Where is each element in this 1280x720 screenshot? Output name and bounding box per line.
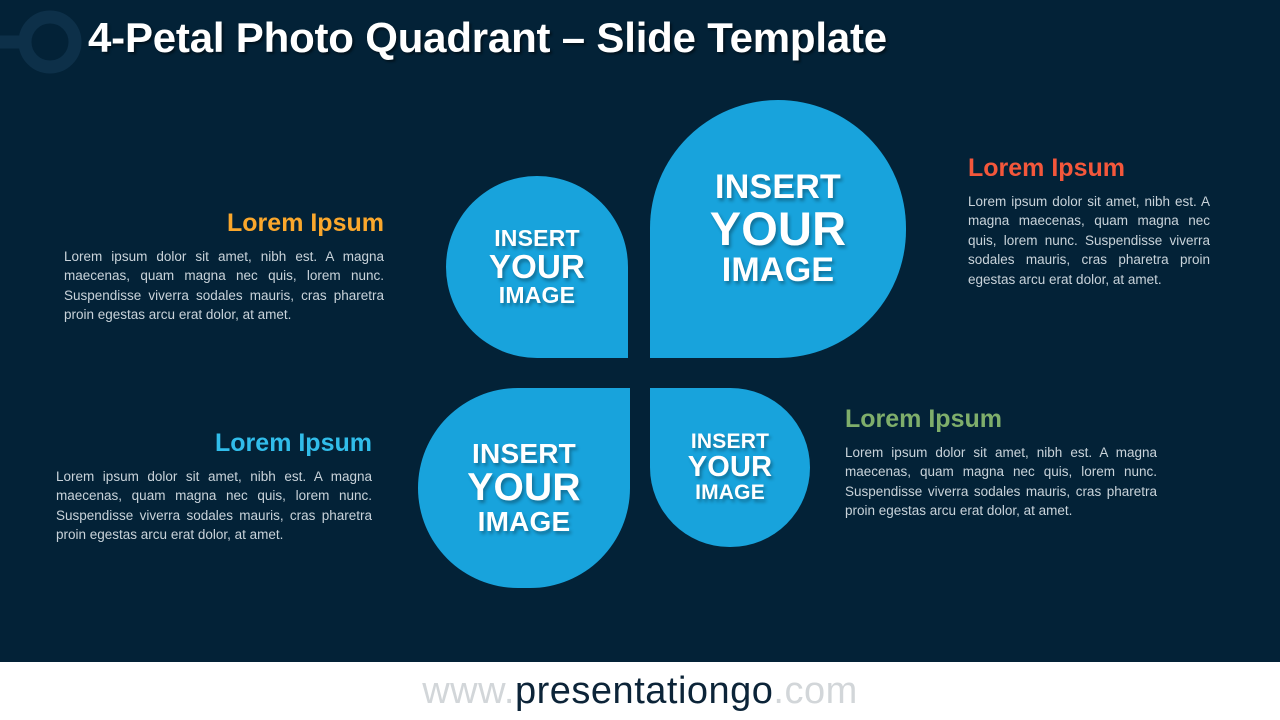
petal-top-left-line2: YOUR (489, 250, 585, 284)
text-block-top-right-body: Lorem ipsum dolor sit amet, nibh est. A … (968, 192, 1210, 289)
text-block-top-right-heading: Lorem Ipsum (968, 153, 1210, 183)
footer-url-prefix: www. (422, 670, 515, 712)
text-block-top-left-body: Lorem ipsum dolor sit amet, nibh est. A … (64, 247, 384, 325)
petal-top-left-line1: INSERT (494, 227, 580, 250)
petal-quadrant-diagram: INSERT YOUR IMAGE INSERT YOUR IMAGE INSE… (0, 0, 1280, 662)
petal-bottom-left-line3: IMAGE (478, 508, 571, 537)
text-block-bottom-left-heading: Lorem Ipsum (56, 428, 372, 458)
text-block-bottom-left: Lorem Ipsum Lorem ipsum dolor sit amet, … (56, 428, 372, 545)
slide-background: 4-Petal Photo Quadrant – Slide Template … (0, 0, 1280, 662)
petal-bottom-right-line3: IMAGE (695, 482, 765, 503)
petal-bottom-right-line2: YOUR (688, 453, 773, 483)
petal-top-right-line3: IMAGE (722, 253, 834, 288)
petal-top-left-line3: IMAGE (499, 284, 575, 307)
text-block-bottom-left-body: Lorem ipsum dolor sit amet, nibh est. A … (56, 467, 372, 545)
petal-top-right-line2: YOUR (710, 205, 847, 253)
footer-url: www.presentationgo.com (422, 670, 858, 713)
slide-canvas: 4-Petal Photo Quadrant – Slide Template … (0, 0, 1280, 720)
text-block-top-right: Lorem Ipsum Lorem ipsum dolor sit amet, … (968, 153, 1210, 289)
text-block-bottom-right-heading: Lorem Ipsum (845, 404, 1157, 434)
text-block-bottom-right: Lorem Ipsum Lorem ipsum dolor sit amet, … (845, 404, 1157, 521)
text-block-top-left-heading: Lorem Ipsum (64, 208, 384, 238)
footer-url-suffix: .com (773, 670, 857, 712)
petal-bottom-left-line2: YOUR (467, 468, 580, 508)
petal-bottom-right[interactable]: INSERT YOUR IMAGE (650, 388, 810, 547)
text-block-top-left: Lorem Ipsum Lorem ipsum dolor sit amet, … (64, 208, 384, 325)
text-block-bottom-right-body: Lorem ipsum dolor sit amet, nibh est. A … (845, 443, 1157, 521)
petal-bottom-left[interactable]: INSERT YOUR IMAGE (418, 388, 630, 588)
petal-top-right[interactable]: INSERT YOUR IMAGE (650, 100, 906, 358)
footer-watermark-bar: www.presentationgo.com (0, 662, 1280, 720)
footer-url-brand: presentationgo (515, 670, 773, 712)
petal-bottom-left-line1: INSERT (472, 440, 576, 469)
petal-top-left[interactable]: INSERT YOUR IMAGE (446, 176, 628, 358)
petal-top-right-line1: INSERT (715, 170, 841, 205)
petal-bottom-right-line1: INSERT (691, 431, 769, 452)
